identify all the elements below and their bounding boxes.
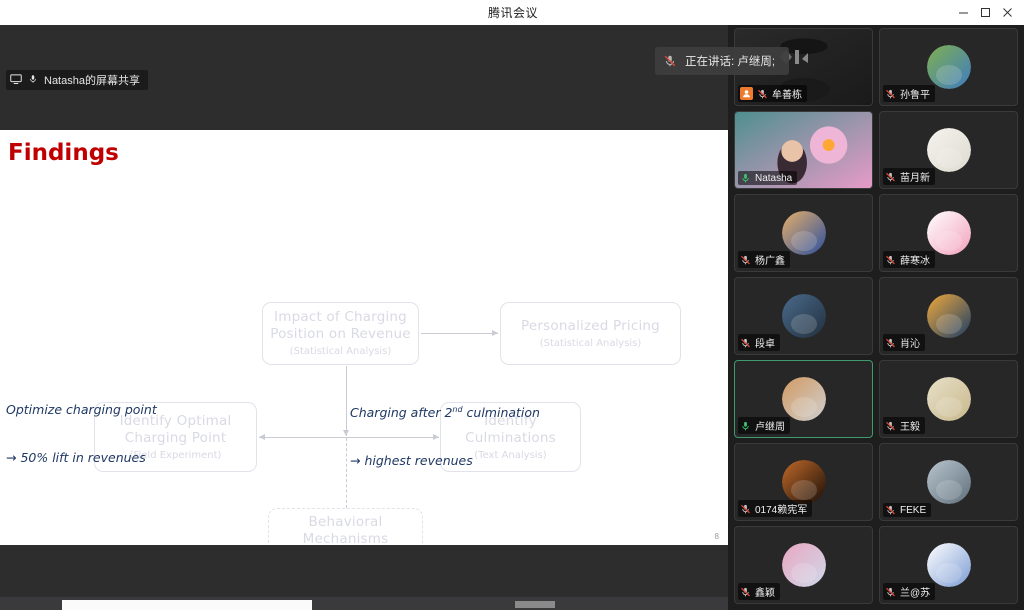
annotation-middle-line1: Charging after 2nd culmination: [350, 402, 540, 421]
mic-muted-icon: [885, 586, 896, 598]
participant-tile[interactable]: 段卓: [734, 277, 873, 355]
participant-nameplate: 兰@苏: [883, 583, 935, 600]
participant-name: 0174赖宪军: [755, 501, 807, 516]
shared-screen-stage: Findings Impact of Charging Position on …: [0, 25, 728, 610]
tencent-meeting-window: 腾讯会议 Findings: [0, 0, 1024, 610]
box-title-line1: Impact of Charging: [274, 309, 407, 326]
mic-icon: [740, 420, 751, 432]
annotation-left-line2: → 50% lift in revenues: [6, 450, 157, 466]
participant-name: 牟善栋: [772, 86, 802, 101]
avatar: [927, 377, 971, 421]
close-icon[interactable]: [996, 3, 1018, 23]
minimize-icon[interactable]: [952, 3, 974, 23]
mic-muted-icon: [885, 337, 896, 349]
avatar: [782, 294, 826, 338]
participant-name: Natasha: [755, 173, 792, 184]
monitor-icon: [10, 73, 22, 88]
participant-nameplate: 薛寒冰: [883, 251, 935, 268]
avatar: [782, 211, 826, 255]
arrowhead-left-mid: [259, 434, 265, 440]
participant-tile[interactable]: 肖沁: [879, 277, 1018, 355]
avatar: [782, 377, 826, 421]
title-bar: 腾讯会议: [0, 0, 1024, 25]
participant-name: 杨广鑫: [755, 252, 785, 267]
participant-nameplate: 卢继周: [738, 417, 790, 434]
participant-nameplate: 杨广鑫: [738, 251, 790, 268]
connector-vertical-impact-down: [346, 366, 347, 436]
box-title-line2: Mechanisms: [303, 531, 389, 546]
participant-tile[interactable]: 0174赖宪军: [734, 443, 873, 521]
participant-tile[interactable]: 苗月新: [879, 111, 1018, 189]
arrowhead-down: [343, 430, 349, 436]
shared-slide: Findings Impact of Charging Position on …: [0, 130, 728, 545]
mic-muted-icon: [740, 337, 751, 349]
participant-nameplate: Natasha: [738, 171, 797, 185]
diagram-box-behavioral-mechanisms: Behavioral Mechanisms (Text Analysis; St…: [268, 508, 423, 545]
mic-muted-icon: [757, 88, 768, 100]
participant-tile[interactable]: 卢继周: [734, 360, 873, 438]
mic-muted-icon: [663, 54, 677, 68]
box-subtitle: (Statistical Analysis): [290, 345, 392, 358]
box-subtitle: (Statistical Analysis): [540, 337, 642, 350]
mic-muted-icon: [740, 586, 751, 598]
diagram-box-personalized-pricing: Personalized Pricing (Statistical Analys…: [500, 302, 681, 365]
avatar: [782, 460, 826, 504]
mic-muted-icon: [740, 254, 751, 266]
participant-name: 兰@苏: [900, 584, 930, 599]
avatar: [927, 460, 971, 504]
participant-tile[interactable]: Natasha: [734, 111, 873, 189]
participant-name: 段卓: [755, 335, 775, 350]
participant-tile[interactable]: 鑫颖: [734, 526, 873, 604]
arrowhead-right-top: [492, 330, 498, 336]
taskbar-window-strip[interactable]: [62, 600, 312, 610]
diagram-box-impact: Impact of Charging Position on Revenue (…: [262, 302, 419, 365]
avatar: [927, 294, 971, 338]
mic-muted-icon: [885, 88, 896, 100]
participant-name: FEKE: [900, 505, 926, 516]
screen-share-label: Natasha的屏幕共享: [44, 72, 140, 88]
participant-nameplate: 鑫颖: [738, 583, 780, 600]
participant-name: 肖沁: [900, 335, 920, 350]
participant-nameplate: FEKE: [883, 503, 931, 517]
connector-impact-to-personalized: [421, 333, 498, 334]
participant-name: 王毅: [900, 418, 920, 433]
active-speaker-label: 正在讲话: 卢继周;: [685, 53, 775, 69]
mic-icon: [740, 172, 751, 184]
participant-tile[interactable]: FEKE: [879, 443, 1018, 521]
annotation-left-line1: Optimize charging point: [6, 402, 157, 418]
avatar: [927, 543, 971, 587]
active-speaker-indicator: 正在讲话: 卢继周;: [655, 47, 789, 75]
box-title-line1: Personalized Pricing: [521, 318, 660, 335]
participant-name: 鑫颖: [755, 584, 775, 599]
participant-name: 薛寒冰: [900, 252, 930, 267]
box-title-line2: Position on Revenue: [270, 326, 411, 343]
maximize-icon[interactable]: [974, 3, 996, 23]
participant-nameplate: 王毅: [883, 417, 925, 434]
participant-grid[interactable]: 牟善栋孙鲁平Natasha苗月新杨广鑫薛寒冰段卓肖沁卢继周王毅0174赖宪军FE…: [728, 25, 1024, 610]
window-controls: [952, 3, 1024, 23]
host-badge: [740, 87, 753, 100]
connector-dashed-to-behavioral: [346, 438, 347, 508]
participant-nameplate: 苗月新: [883, 168, 935, 185]
avatar: [927, 211, 971, 255]
participant-tile[interactable]: 兰@苏: [879, 526, 1018, 604]
avatar: [927, 45, 971, 89]
window-title: 腾讯会议: [74, 4, 952, 21]
page-title: Findings: [8, 140, 119, 166]
mic-muted-icon: [885, 254, 896, 266]
avatar: [782, 543, 826, 587]
participant-tile[interactable]: 杨广鑫: [734, 194, 873, 272]
mic-muted-icon: [885, 504, 896, 516]
participant-nameplate: 孙鲁平: [883, 85, 935, 102]
box-title-line1: Behavioral: [309, 514, 383, 531]
participant-tile[interactable]: 王毅: [879, 360, 1018, 438]
mic-icon: [28, 73, 38, 88]
participant-nameplate: 段卓: [738, 334, 780, 351]
mic-muted-icon: [740, 503, 751, 515]
mic-muted-icon: [885, 171, 896, 183]
mic-muted-icon: [885, 420, 896, 432]
annotation-middle-line2: → highest revenues: [350, 453, 540, 469]
participant-nameplate: 牟善栋: [738, 85, 807, 102]
participant-name: 卢继周: [755, 418, 785, 433]
annotation-middle: Charging after 2nd culmination → highest…: [350, 370, 540, 501]
taskbar-chip[interactable]: [515, 601, 555, 608]
participant-tile[interactable]: 孙鲁平: [879, 28, 1018, 106]
participant-name: 孙鲁平: [900, 86, 930, 101]
participant-name: 苗月新: [900, 169, 930, 184]
participant-nameplate: 0174赖宪军: [738, 500, 812, 517]
participant-tile[interactable]: 薛寒冰: [879, 194, 1018, 272]
participant-nameplate: 肖沁: [883, 334, 925, 351]
screen-share-indicator: Natasha的屏幕共享: [6, 70, 148, 90]
avatar: [927, 128, 971, 172]
slide-page-number: 8: [715, 532, 719, 541]
annotation-left: Optimize charging point → 50% lift in re…: [6, 370, 157, 498]
